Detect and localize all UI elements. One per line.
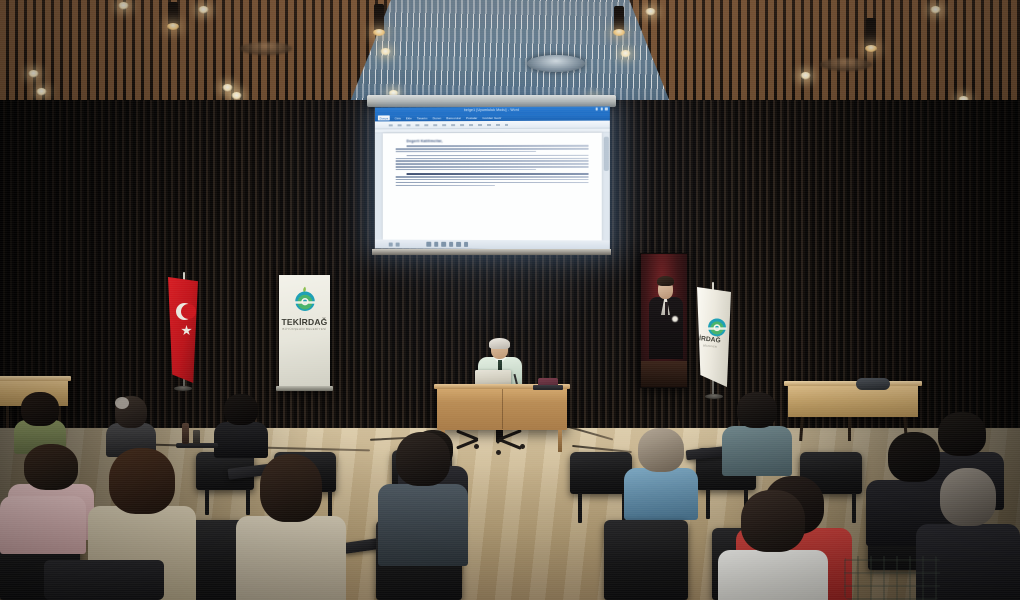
ribbon-tab[interactable]: Dosya: [378, 115, 390, 120]
rollup-banner-title: TEKİRDAĞ: [279, 317, 330, 327]
presenter-hair: [489, 338, 510, 349]
chair-caster: [496, 450, 501, 455]
thermos-icon: [182, 423, 189, 444]
ceiling-spotlight-icon: [231, 92, 242, 100]
window-controls: [596, 108, 608, 111]
person-hair: [396, 432, 450, 486]
audience-member-1: [14, 392, 66, 452]
person-shirt: [378, 484, 468, 566]
ribbon-tab[interactable]: Basvurular: [446, 116, 461, 120]
audience-member-4: [214, 394, 268, 454]
taskbar-icon[interactable]: [456, 242, 460, 247]
audience-chair[interactable]: [604, 520, 688, 600]
portrait-pocket-square: [672, 316, 678, 322]
projected-word-document: belge1 [Uyumluluk Modu] - Word Dosya Gir…: [375, 106, 610, 249]
plaid-bag: [844, 556, 940, 600]
municipality-flag-icon: İRDAĞ BELEDİYESİ: [697, 287, 731, 387]
chair-caster: [520, 444, 525, 449]
taskbar-icon[interactable]: [441, 242, 445, 247]
ceiling-spotlight-icon: [222, 84, 233, 92]
chair-leg: [852, 493, 856, 523]
audience-member-9: [624, 428, 698, 512]
audience-member-12: [718, 490, 828, 600]
person-hair: [940, 468, 996, 526]
projection-screen-weight-bar: [372, 249, 611, 255]
ceiling-spotlight-icon: [198, 6, 209, 14]
document-scrollbar[interactable]: [602, 133, 610, 241]
taskbar-icon[interactable]: [434, 242, 438, 247]
ceiling-vent-icon: [527, 55, 585, 72]
presenter-desk-seam: [502, 389, 503, 429]
ceiling-spotlight-icon: [118, 2, 129, 10]
taskbar-icon[interactable]: [449, 242, 453, 247]
status-icon: [389, 242, 393, 246]
conference-hall-photo: belge1 [Uyumluluk Modu] - Word Dosya Gir…: [0, 0, 1020, 600]
person-shirt: [718, 550, 828, 600]
portrait-desk: [641, 361, 687, 387]
ceiling-spotlight-icon: [28, 70, 39, 78]
ceiling-spotlight-icon: [380, 48, 391, 56]
audience-member-3: [106, 396, 156, 454]
portrait-hair: [657, 276, 674, 286]
audience-member-2b: [0, 448, 86, 548]
pendant-light-icon: [168, 2, 178, 26]
bench-left-leg: [6, 406, 9, 428]
municipality-logo-icon: [706, 315, 728, 337]
ribbon-tab[interactable]: Giris: [395, 116, 401, 120]
bench-right: [788, 385, 918, 417]
audience-member-10: [722, 392, 792, 468]
rollup-banner-subtitle: BÜYÜKŞEHİR BELEDİYESİ: [279, 327, 330, 331]
person-hair: [741, 490, 805, 552]
taskbar-icon[interactable]: [426, 242, 430, 247]
tekirdag-rollup-banner: TEKİRDAĞ BÜYÜKŞEHİR BELEDİYESİ: [279, 275, 330, 389]
chair-caster: [474, 444, 479, 449]
crescent-icon: [176, 303, 193, 320]
turkish-flag-base: [174, 386, 192, 391]
presenter-desk-leg: [558, 430, 562, 452]
chair-leg: [497, 440, 500, 444]
person-shirt: [214, 422, 268, 458]
document-heading: Degerli Katilimcilar,: [407, 139, 589, 143]
draped-jacket: [44, 560, 164, 600]
rollup-banner-base: [276, 386, 333, 391]
cup-icon: [193, 430, 200, 444]
ceiling-spotlight-icon: [36, 88, 47, 96]
document-page: Degerli Katilimcilar,: [383, 133, 602, 241]
audience-member-7: [236, 454, 346, 600]
ribbon-tab[interactable]: Ekle: [406, 116, 412, 120]
bench-left-top: [0, 376, 71, 381]
person-hair: [638, 428, 684, 472]
person-shirt: [624, 468, 698, 520]
chair-leg: [578, 493, 582, 523]
ribbon-tab[interactable]: Duzen: [432, 116, 441, 120]
person-hair: [224, 394, 258, 425]
person-shirt: [0, 496, 86, 554]
document-paragraph: [396, 155, 589, 171]
desk-object-tray: [533, 385, 563, 390]
document-paragraph: [396, 173, 589, 186]
audience-chair[interactable]: [570, 452, 632, 494]
bench-right-leg: [848, 417, 851, 441]
pendant-light-icon: [614, 6, 624, 32]
person-shirt: [722, 426, 792, 476]
projection-screen-case: [367, 95, 616, 107]
taskbar-icons: [426, 242, 468, 247]
turkish-flag-icon: [168, 277, 198, 383]
person-hair: [21, 392, 59, 426]
ceiling-spotlight-icon: [620, 50, 631, 58]
chair-leg: [706, 489, 710, 519]
ribbon-tab[interactable]: Tasarim: [417, 116, 428, 120]
presenter-desk: [437, 388, 567, 430]
star-icon: [181, 325, 192, 336]
document-paragraph: [396, 145, 589, 153]
status-icon: [396, 242, 400, 246]
pendant-shade: [240, 42, 292, 55]
person-hair: [109, 448, 175, 514]
person-hair: [260, 454, 322, 522]
ribbon-tab[interactable]: Postalar: [466, 116, 477, 120]
pendant-light-icon: [374, 4, 384, 32]
portrait-tie: [665, 302, 669, 319]
ceiling-spotlight-icon: [930, 6, 941, 14]
person-shirt: [236, 516, 346, 600]
taskbar-icon[interactable]: [464, 242, 468, 247]
ceiling-spotlight-icon: [800, 72, 811, 80]
pendant-shade: [820, 58, 872, 71]
bench-right-top: [784, 381, 922, 386]
bench-right-bag: [856, 378, 890, 390]
document-margin-left: [375, 133, 383, 239]
audience-member-8: [378, 432, 468, 562]
ataturk-portrait-icon: [640, 253, 688, 388]
municipality-flag-base: [705, 394, 723, 399]
municipality-flag-subtext: BELEDİYESİ: [703, 344, 717, 348]
ribbon-tab[interactable]: Gozden Gecir: [482, 115, 501, 119]
tekirdag-leaf-logo-icon: [292, 285, 318, 311]
projection-screen: belge1 [Uyumluluk Modu] - Word Dosya Gir…: [370, 97, 613, 259]
presenter-office-chair: [474, 430, 526, 450]
close-icon[interactable]: [605, 108, 608, 111]
pendant-light-icon: [866, 18, 876, 48]
maximize-icon[interactable]: [600, 108, 603, 111]
person-grey-hair: [115, 397, 129, 409]
person-hair: [737, 392, 777, 428]
chair-leg: [205, 489, 209, 515]
word-title-text: belge1 [Uyumluluk Modu] - Word: [464, 107, 519, 111]
ceiling-spotlight-icon: [645, 8, 656, 16]
minimize-icon[interactable]: [596, 108, 599, 111]
